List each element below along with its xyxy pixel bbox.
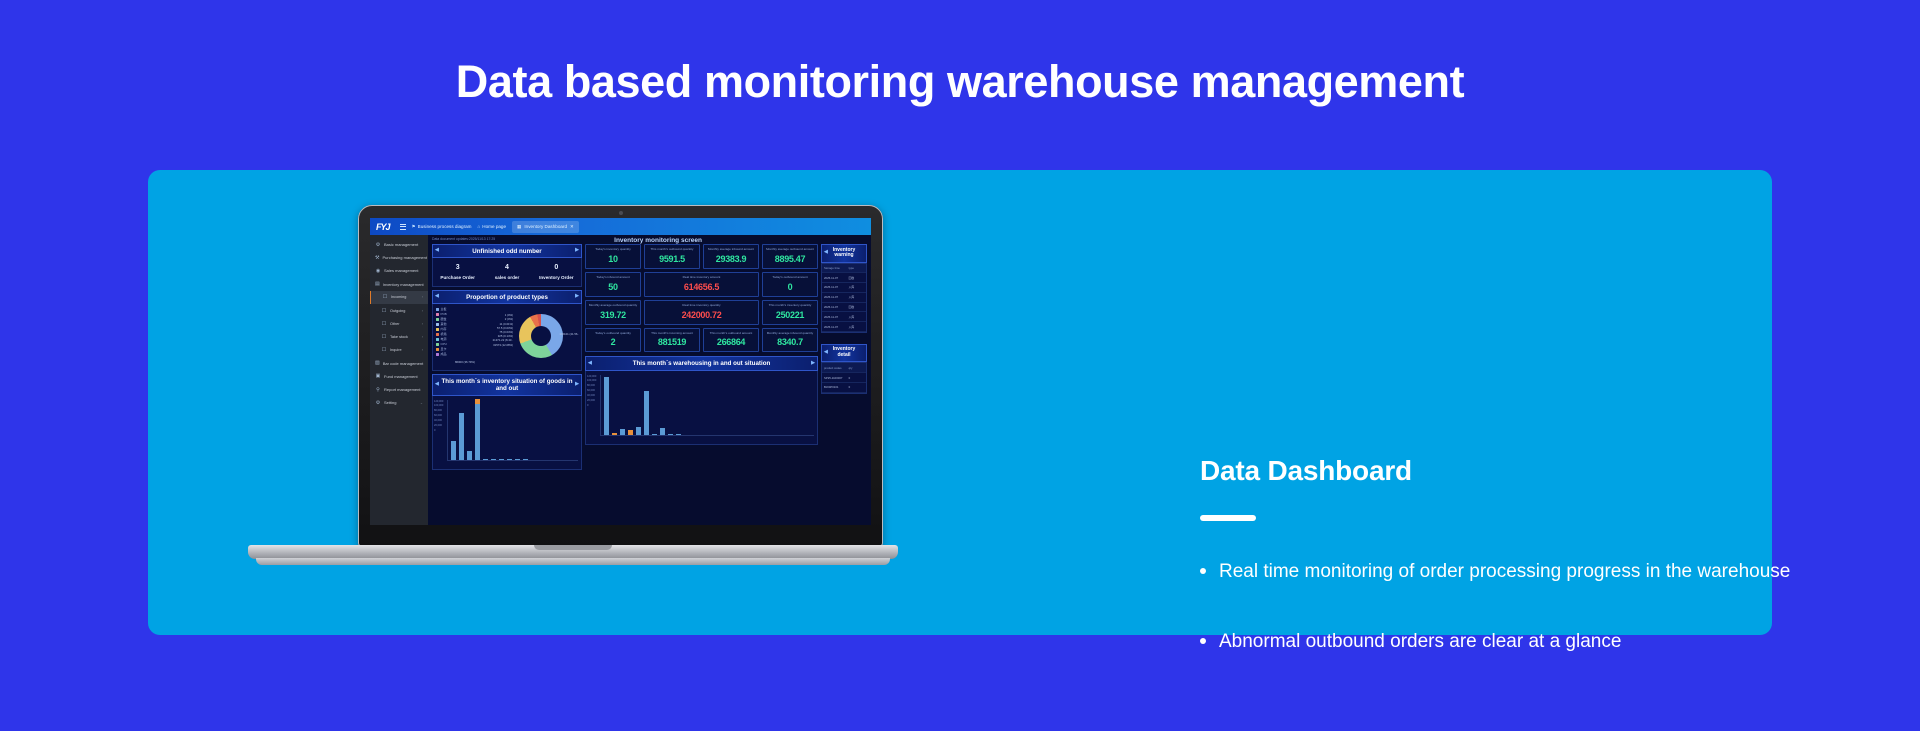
kpi-tile: This month's incoming amount 881519 [644,328,700,353]
bullet-dot-icon [1200,568,1206,574]
label: sales order [482,275,531,280]
search-icon: ⚲ [375,387,381,393]
chevron-right-icon: › [422,335,423,339]
sidebar-item-purchasing-management[interactable]: ⚒ Purchasing management [370,251,428,264]
column-header: product codes [824,366,849,370]
kpi-tile: Monthly average inbound amount 29383.9 [703,244,759,269]
sidebar-item-label: Fund management [384,374,418,379]
kpi-value: 0 [764,282,816,292]
chart-warehousing-in-out: 120,000 100,000 80,000 60,000 40,000 20,… [585,371,818,445]
kpi-tile: Today's inbound amount 50 [585,272,641,297]
kpi-tiles: Today's inventory quantity 10 This month… [585,244,818,352]
app-logo[interactable]: FYJ [376,222,390,232]
chart-icon: ▦ [517,224,521,230]
kpi-value: 266864 [705,337,757,347]
table-row[interactable]: 2025-11-07 回收 [822,273,866,283]
panel-header-chart-1: ◀ This month`s inventory situation of go… [432,374,582,395]
chevron-right-icon: › [422,348,423,352]
y-axis-labels: 120,000 100,000 80,000 60,000 40,000 20,… [587,375,596,409]
hamburger-icon[interactable] [400,224,406,230]
sidebar-item-sales-management[interactable]: ◉ Sales management [370,264,428,277]
bar [483,459,488,460]
unfinished-sales-order: 4 sales order [482,264,531,280]
bullet-text: Real time monitoring of order processing… [1219,559,1790,585]
folder-icon: ☐ [381,347,387,353]
chevron-right-icon[interactable]: ▶ [575,294,579,300]
home-icon: ⌂ [478,224,481,229]
slide-root: Data based monitoring warehouse manageme… [0,0,1920,731]
label: Inventory Order [532,275,581,280]
sidebar-item-label: Outgoing [390,309,405,313]
kpi-value: 9591.5 [646,254,698,264]
chart-inventory-in-out: 120,000 100,000 80,000 60,000 40,000 20,… [432,396,582,470]
chevron-down-icon: ⌄ [420,401,423,405]
app-topbar: FYJ ⚑ Business process diagram ⌂ Home pa… [370,218,871,235]
table-row[interactable]: 2025-11-07 入库 [822,312,866,322]
page-title: Data based monitoring warehouse manageme… [0,56,1920,108]
flag-icon: ⚑ [412,224,416,230]
kpi-value: 8895.47 [764,254,816,264]
cart-icon: ⚒ [375,255,379,261]
legend-item: 主板 [436,307,458,311]
y-axis-labels: 120,000 100,000 80,000 60,000 40,000 20,… [434,400,443,434]
kpi-tile: Today's outbound amount 0 [762,272,818,297]
screen-title: Inventory monitoring screen [495,235,821,244]
kpi-tile: This month's inventory quantity 250221 [762,300,818,325]
kpi-tile: Monthly average inbound quantity 8340.7 [762,328,818,353]
donut-callout-left: 86000 (36.79%) [455,360,475,364]
left-column: ◀ Unfinished odd number ▶ 3 Pu [432,244,582,470]
breadcrumb-label: Business process diagram [418,224,472,229]
bar [620,429,625,435]
sidebar-item-incoming[interactable]: ☐ Incoming › [370,291,428,304]
panel-title: Unfinished odd number [472,248,541,255]
table-row[interactable]: 2025-11-07 入库 [822,322,866,332]
feature-text-block: Data Dashboard Real time monitoring of o… [1200,455,1900,698]
kpi-label: Real time inventory amount [646,276,757,280]
table-row[interactable]: BJ04P0101 0 [822,383,866,393]
sidebar: ⚙ Basic management ⚒ Purchasing manageme… [370,235,428,525]
donut-callout-right: 100101 (41.56.. [559,332,579,336]
kpi-tile: Real time inventory quantity 242000.72 [644,300,759,325]
webcam-icon [619,211,623,215]
list-item: Abnormal outbound orders are clear at a … [1200,629,1900,655]
bar [660,428,665,435]
sidebar-item-other[interactable]: ☐ Other › [370,317,428,330]
laptop-screen: FYJ ⚑ Business process diagram ⌂ Home pa… [370,218,871,525]
chevron-left-icon[interactable]: ◀ [435,294,439,300]
bar-cap [475,399,480,404]
list-item: Real time monitoring of order processing… [1200,559,1900,585]
bar-series [600,375,814,436]
sidebar-item-label: Bar code management [383,361,423,366]
sidebar-item-fund-management[interactable]: ▣ Fund management [370,370,428,383]
title-underline [1200,515,1256,521]
tab-label: Inventory Dashboard [524,224,567,229]
sidebar-item-basic-management[interactable]: ⚙ Basic management [370,238,428,251]
bar [644,391,649,435]
panel-header-unfinished: ◀ Unfinished odd number ▶ [432,244,582,258]
unfinished-purchase-order: 3 Purchase Order [433,264,482,280]
chevron-left-icon[interactable]: ◀ [824,350,828,356]
feature-card: FYJ ⚑ Business process diagram ⌂ Home pa… [148,170,1772,635]
table-header-row: product codes qty [822,363,866,373]
sidebar-item-bar-code-management[interactable]: ▧ Bar code management [370,357,428,370]
table-row[interactable]: SP25-1100007 0 [822,373,866,383]
barcode-icon: ▧ [375,360,380,366]
chevron-right-icon[interactable]: ▶ [811,361,815,367]
chevron-right-icon: › [422,295,423,299]
bar [459,413,464,459]
panel-title: This month`s inventory situation of good… [442,378,573,392]
panel-header-chart-2: ◀ This month`s warehousing in and out si… [585,356,818,370]
kpi-label: Monthly average outbound amount [764,248,816,252]
kpi-label: Today's inventory quantity [587,248,639,252]
sidebar-item-label: Incoming [391,295,406,299]
close-icon[interactable]: ✕ [570,224,574,230]
chevron-right-icon: › [422,322,423,326]
legend-item: 显卡 [436,347,458,351]
unfinished-inventory-order: 0 Inventory Order [532,264,581,280]
feature-bullet-list: Real time monitoring of order processing… [1200,559,1900,654]
sidebar-item-inquire[interactable]: ☐ Inquire › [370,344,428,357]
breadcrumb-business-process[interactable]: ⚑ Business process diagram [412,224,472,230]
folder-icon: ☐ [382,294,388,300]
panel-title: Inventory detail [833,346,856,358]
kpi-value: 8340.7 [764,337,816,347]
table-header-row: Storage time type [822,264,866,274]
bar [612,433,617,435]
sidebar-item-outgoing[interactable]: ☐ Outgoing › [370,304,428,317]
breadcrumb-home-page[interactable]: ⌂ Home page [478,224,507,229]
panel-body-unfinished: 3 Purchase Order 4 sales order [432,258,582,287]
chevron-left-icon[interactable]: ◀ [588,361,592,367]
bar [628,430,633,434]
column-header: qty [849,366,864,370]
sidebar-item-label: Inventory management [383,282,424,287]
kpi-label: Real time inventory quantity [646,304,757,308]
kpi-label: This month's outbound quantity [646,248,698,252]
kpi-label: This month's inventory quantity [764,304,816,308]
table-row[interactable]: 2025-11-07 回收 [822,303,866,313]
laptop-foot [256,558,890,565]
bullet-text: Abnormal outbound orders are clear at a … [1219,629,1621,655]
kpi-label: Monthly average inbound amount [705,248,757,252]
tag-icon: ◉ [375,268,381,274]
kpi-value: 50 [587,282,639,292]
dashboard-content: Data document updates:2025/11/13 17:25 I… [428,235,871,525]
inventory-warning-table: Storage time type 2025-11-07 回收 [821,263,867,333]
bar [451,441,456,460]
value: 4 [482,264,531,271]
kpi-value: 319.72 [587,310,639,320]
label: Purchase Order [433,275,482,280]
kpi-tile: Today's outbound quantity 2 [585,328,641,353]
donut-ring [519,314,563,358]
sidebar-item-inventory-management[interactable]: ▤ Inventory management [370,278,428,291]
bar [475,404,480,459]
dashboard-grid: ◀ Unfinished odd number ▶ 3 Pu [428,244,871,470]
kpi-value: 10 [587,254,639,264]
kpi-label: Today's outbound amount [764,276,816,280]
gear-icon: ⚙ [375,400,381,406]
chevron-left-icon[interactable]: ◀ [435,382,439,388]
sidebar-item-label: Basic management [384,242,418,247]
sidebar-item-label: Other [390,322,400,326]
kpi-label: Monthly average inbound quantity [764,332,816,336]
callout: 31573 (12.08%) [447,343,513,347]
column-header: Storage time [824,266,849,270]
sidebar-item-label: Setting [384,400,396,405]
folder-icon: ☐ [381,308,387,314]
sidebar-item-setting[interactable]: ⚙ Setting ⌄ [370,396,428,409]
panel-body-product-types: 主板 PCB 硬盘 其他 内存 机箱 电源 CPU [432,304,582,371]
kpi-tile: Monthly average outbound amount 8895.47 [762,244,818,269]
tab-inventory-dashboard[interactable]: ▦ Inventory Dashboard ✕ [512,221,579,233]
panel-header-product-types: ◀ Proportion of product types ▶ [432,290,582,304]
value: 0 [532,264,581,271]
column-header: type [849,266,864,270]
kpi-label: Monthly average outbound quantity [587,304,639,308]
sidebar-item-label: Take stock [390,335,408,339]
cube-icon: ⚙ [375,242,381,248]
right-column: ◀ Inventory warning Storage time type [821,244,867,470]
kpi-value: 2 [587,337,639,347]
kpi-value: 242000.72 [646,310,757,320]
kpi-tile: Today's inventory quantity 10 [585,244,641,269]
panel-title: This month`s warehousing in and out situ… [633,360,771,367]
kpi-label: Today's inbound amount [587,276,639,280]
kpi-tile: This month's outbound quantity 9591.5 [644,244,700,269]
bar [467,451,472,460]
kpi-value: 250221 [764,310,816,320]
data-timestamp: Data document updates:2025/11/13 17:25 [428,235,495,242]
chevron-right-icon[interactable]: ▶ [575,248,579,254]
panel-title: Proportion of product types [466,294,548,301]
breadcrumb-label: Home page [482,224,506,229]
panel-header-inventory-detail: ◀ Inventory detail [821,344,867,363]
sidebar-item-label: Inquire [390,348,402,352]
kpi-label: This month's incoming amount [646,332,698,336]
wallet-icon: ▣ [375,373,381,379]
donut-callouts: 1 (0%) 2 (0%) 11 (0.01%) 57.5 (0.03%) 75… [447,313,513,347]
panel-header-inventory-warning: ◀ Inventory warning [821,244,867,263]
legend-item: 成品 [436,352,458,356]
sidebar-item-label: Purchasing management [382,255,426,260]
kpi-value: 29383.9 [705,254,757,264]
donut-chart: 主板 PCB 硬盘 其他 内存 机箱 电源 CPU [433,304,581,370]
bar [636,427,641,435]
kpi-label: Today's outbound quantity [587,332,639,336]
kpi-tile: This month's outbound amount 266864 [703,328,759,353]
panel-title: Inventory warning [833,247,856,259]
chevron-left-icon[interactable]: ◀ [824,250,828,256]
bullet-dot-icon [1200,638,1206,644]
table-row[interactable]: 2025-11-07 入库 [822,283,866,293]
middle-column: Today's inventory quantity 10 This month… [585,244,818,470]
sidebar-item-report-management[interactable]: ⚲ Report management [370,383,428,396]
table-row[interactable]: 2025-11-07 入库 [822,293,866,303]
chevron-right-icon: › [422,309,423,313]
chevron-right-icon[interactable]: ▶ [575,382,579,388]
sidebar-item-label: Sales management [384,268,418,273]
kpi-tile: Real time inventory amount 614656.5 [644,272,759,297]
kpi-value: 614656.5 [646,282,757,292]
folder-icon: ☐ [381,334,387,340]
laptop-lid: FYJ ⚑ Business process diagram ⌂ Home pa… [358,205,883,547]
box-icon: ▤ [375,281,380,287]
laptop-mockup: FYJ ⚑ Business process diagram ⌂ Home pa… [248,205,898,605]
kpi-value: 881519 [646,337,698,347]
product-detail-table: product codes qty SP25-1100007 0 [821,362,867,393]
sidebar-item-take-stock[interactable]: ☐ Take stock › [370,330,428,343]
kpi-tile: Monthly average outbound quantity 319.72 [585,300,641,325]
value: 3 [433,264,482,271]
laptop-base [248,545,898,559]
bar [604,377,609,435]
bar-series [447,400,578,461]
kpi-label: This month's outbound amount [705,332,757,336]
feature-title: Data Dashboard [1200,455,1900,487]
sidebar-item-label: Report management [384,387,420,392]
chevron-left-icon[interactable]: ◀ [435,248,439,254]
folder-icon: ☐ [381,321,387,327]
